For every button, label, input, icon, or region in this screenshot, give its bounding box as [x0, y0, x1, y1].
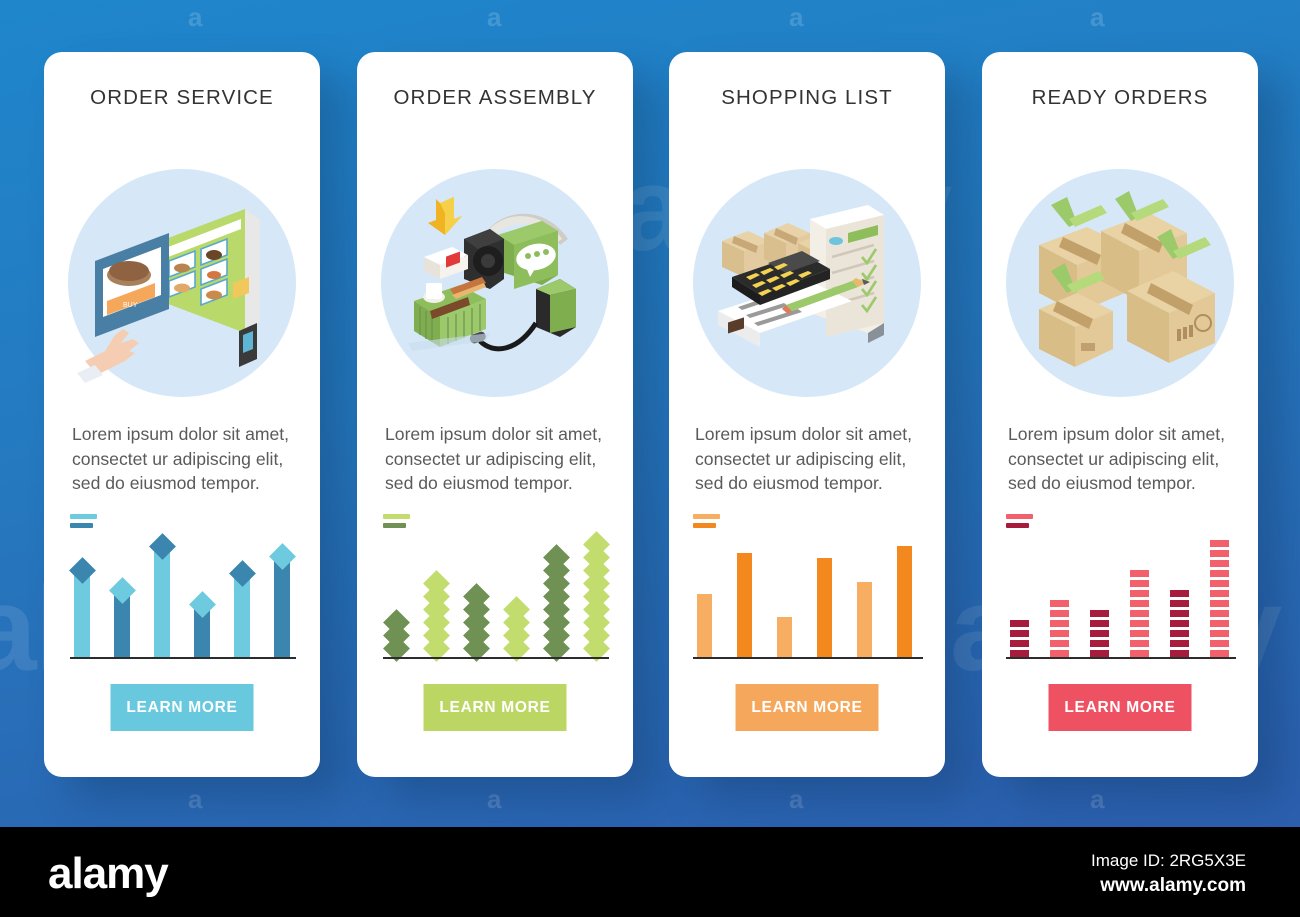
chart-segment: [1090, 620, 1109, 627]
chart-segment: [1170, 600, 1189, 607]
chart-segment: [1050, 610, 1069, 617]
chart-segment: [1010, 630, 1029, 637]
chart-segment: [1210, 560, 1229, 567]
chart-segment: [1210, 580, 1229, 587]
card-shopping-list[interactable]: SHOPPING LIST: [669, 52, 945, 777]
cards-container: ORDER SERVICE: [0, 0, 1300, 827]
chart-bar: [697, 594, 712, 657]
chart-segment: [1130, 610, 1149, 617]
headset-shopping-basket-icon: [390, 183, 600, 383]
chart-segment: [1130, 570, 1149, 577]
learn-more-label: LEARN MORE: [439, 699, 550, 717]
chart-marker-diamond: [149, 533, 176, 560]
legend-swatch-light: [70, 514, 97, 519]
image-id-label: Image ID: 2RG5X3E: [946, 851, 1246, 871]
chart-legend: [693, 514, 723, 532]
chart-marker-diamond: [109, 577, 136, 604]
card-body-text: Lorem ipsum dolor sit amet, consectet ur…: [1008, 422, 1236, 496]
chart-order-service: [70, 514, 296, 659]
legend-swatch-dark: [693, 523, 716, 528]
chart-order-assembly: [383, 514, 609, 659]
learn-more-button[interactable]: LEARN MORE: [736, 684, 879, 731]
chart-legend: [1006, 514, 1036, 532]
illustration-shopping-list: [669, 168, 945, 398]
alamy-logo: alamy: [48, 849, 168, 899]
learn-more-label: LEARN MORE: [751, 699, 862, 717]
chart-bar: [154, 549, 170, 657]
chart-axis: [70, 657, 296, 660]
chart-marker-diamond: [269, 543, 296, 570]
watermark-footer: alamy Image ID: 2RG5X3E www.alamy.com: [0, 827, 1300, 917]
learn-more-button[interactable]: LEARN MORE: [1049, 684, 1192, 731]
chart-segment: [1210, 570, 1229, 577]
chart-plot: [1006, 539, 1236, 659]
chart-segment: [1210, 540, 1229, 547]
chart-segment: [1130, 600, 1149, 607]
chart-shopping-list: [693, 514, 923, 659]
chart-plot: [383, 539, 609, 659]
chart-segment: [1010, 620, 1029, 627]
learn-more-button[interactable]: LEARN MORE: [111, 684, 254, 731]
chart-marker-diamond: [69, 557, 96, 584]
chart-axis: [693, 657, 923, 660]
chart-segment: [1090, 640, 1109, 647]
chart-segment: [1170, 590, 1189, 597]
card-body-text: Lorem ipsum dolor sit amet, consectet ur…: [72, 422, 298, 496]
chart-bar: [74, 573, 90, 657]
page-title: READY ORDERS: [982, 86, 1258, 110]
legend-swatch-light: [693, 514, 720, 519]
illustration-ready-orders: [982, 168, 1258, 398]
chart-marker-diamond: [229, 560, 256, 587]
card-ready-orders[interactable]: READY ORDERS: [982, 52, 1258, 777]
chart-segment: [1130, 620, 1149, 627]
illustration-order-service: BUY: [44, 168, 320, 398]
chart-segment: [1210, 630, 1229, 637]
chart-axis: [383, 657, 609, 660]
card-order-assembly[interactable]: ORDER ASSEMBLY: [357, 52, 633, 777]
chart-segment: [1130, 630, 1149, 637]
chart-segment: [1210, 590, 1229, 597]
chart-segment: [1210, 600, 1229, 607]
chart-segment: [1170, 630, 1189, 637]
touchscreen-menu-order-icon: BUY: [77, 183, 287, 383]
chart-legend: [383, 514, 413, 532]
page-root: a a a a a a a a alamy alamy alamy ORDER …: [0, 0, 1300, 917]
page-title: SHOPPING LIST: [669, 86, 945, 110]
chart-axis: [1006, 657, 1236, 660]
illustration-order-assembly: [357, 168, 633, 398]
chart-segment: [1050, 630, 1069, 637]
legend-swatch-dark: [383, 523, 406, 528]
card-order-service[interactable]: ORDER SERVICE: [44, 52, 320, 777]
calculator-checklist-boxes-icon: [702, 183, 912, 383]
alamy-url-label: www.alamy.com: [946, 875, 1246, 897]
learn-more-button[interactable]: LEARN MORE: [424, 684, 567, 731]
card-body-text: Lorem ipsum dolor sit amet, consectet ur…: [385, 422, 611, 496]
legend-swatch-light: [1006, 514, 1033, 519]
chart-segment: [1170, 610, 1189, 617]
legend-swatch-light: [383, 514, 410, 519]
chart-segment: [1130, 590, 1149, 597]
chart-segment: [1050, 640, 1069, 647]
chart-segment: [1210, 610, 1229, 617]
chart-bar: [897, 546, 912, 657]
chart-segment: [1130, 640, 1149, 647]
chart-legend: [70, 514, 100, 532]
chart-segment: [1210, 640, 1229, 647]
legend-swatch-dark: [70, 523, 93, 528]
packed-boxes-checkmarks-icon: [1015, 183, 1225, 383]
chart-bar: [857, 582, 872, 657]
chart-segment: [1090, 630, 1109, 637]
chart-bar: [737, 553, 752, 657]
svg-text:BUY: BUY: [123, 302, 138, 309]
chart-bar: [817, 558, 832, 657]
chart-plot: [693, 539, 923, 659]
card-body-text: Lorem ipsum dolor sit amet, consectet ur…: [695, 422, 923, 496]
chart-segment: [1130, 580, 1149, 587]
chart-plot: [70, 539, 296, 659]
chart-ready-orders: [1006, 514, 1236, 659]
chart-segment: [1010, 640, 1029, 647]
learn-more-label: LEARN MORE: [1064, 699, 1175, 717]
chart-segment: [1210, 550, 1229, 557]
chart-bar: [274, 559, 290, 657]
page-title: ORDER ASSEMBLY: [357, 86, 633, 110]
chart-segment: [1210, 620, 1229, 627]
chart-marker-diamond: [189, 591, 216, 618]
chart-segment: [1050, 620, 1069, 627]
legend-swatch-dark: [1006, 523, 1029, 528]
chart-bar: [234, 576, 250, 657]
chart-segment: [1050, 600, 1069, 607]
chart-segment: [1170, 620, 1189, 627]
page-title: ORDER SERVICE: [44, 86, 320, 110]
chart-bar: [777, 617, 792, 657]
chart-segment: [1170, 640, 1189, 647]
chart-segment: [1090, 610, 1109, 617]
learn-more-label: LEARN MORE: [126, 699, 237, 717]
